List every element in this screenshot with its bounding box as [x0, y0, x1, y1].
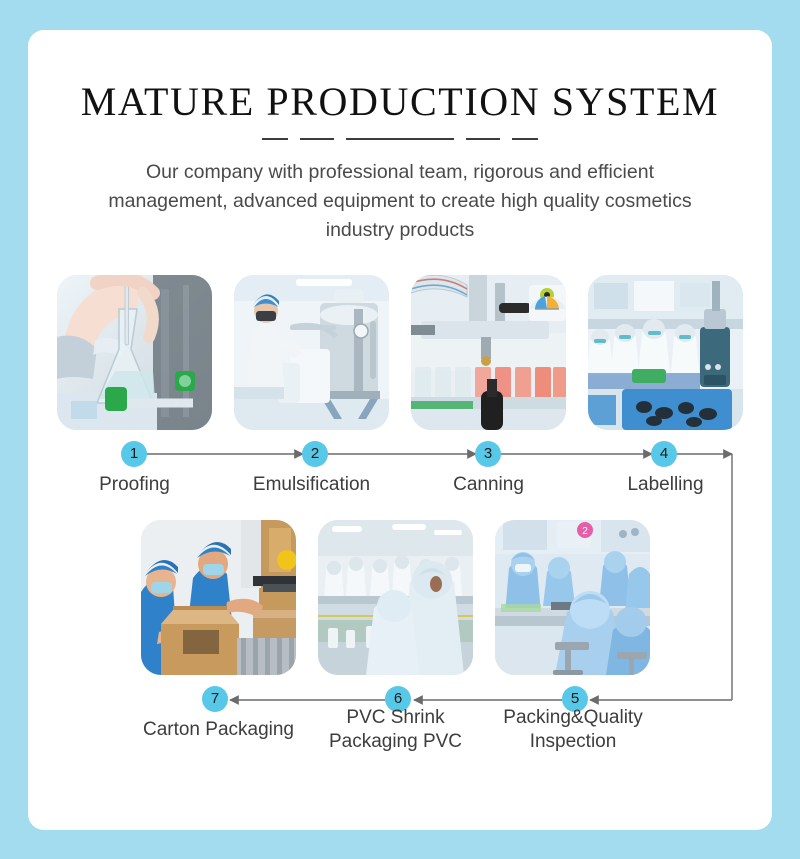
step-label-packing-quality-inspection: Packing&Quality Inspection	[483, 706, 663, 754]
bottle-filling-machine-photo	[411, 275, 566, 430]
page-subtitle: Our company with professional team, rigo…	[100, 158, 700, 245]
step-marker-2[interactable]: 2	[302, 441, 328, 467]
svg-text:2: 2	[582, 526, 588, 537]
step-image-pvc-shrink-packaging[interactable]	[318, 520, 473, 675]
cleanroom-labelling-line-photo	[588, 275, 743, 430]
step-label-labelling: Labelling	[588, 473, 743, 497]
divider-dash-2	[300, 138, 334, 140]
step-label-canning: Canning	[411, 473, 566, 497]
cleanroom-shrink-packaging-photo	[318, 520, 473, 675]
step-image-proofing[interactable]	[57, 275, 212, 430]
divider-dash-3	[346, 138, 454, 140]
carton-packing-conveyor-photo	[141, 520, 296, 675]
step-marker-3[interactable]: 3	[475, 441, 501, 467]
divider-dash-1	[262, 138, 288, 140]
inspection-workbench-photo: 2	[495, 520, 650, 675]
step-image-carton-packaging[interactable]	[141, 520, 296, 675]
divider-dash-4	[466, 138, 500, 140]
lab-flask-pipette-photo	[57, 275, 212, 430]
title-divider	[28, 138, 772, 140]
step-label-carton-packaging: Carton Packaging	[131, 718, 306, 742]
step-label-emulsification: Emulsification	[234, 473, 389, 497]
step-label-pvc-shrink-packaging: PVC Shrink Packaging PVC	[318, 706, 473, 754]
page-title: MATURE PRODUCTION SYSTEM	[28, 78, 772, 125]
step-marker-4[interactable]: 4	[651, 441, 677, 467]
emulsifier-tank-operator-photo	[234, 275, 389, 430]
step-marker-1[interactable]: 1	[121, 441, 147, 467]
step-image-packing-quality-inspection[interactable]: 2	[495, 520, 650, 675]
step-label-proofing: Proofing	[57, 473, 212, 497]
infographic-page: MATURE PRODUCTION SYSTEM Our company wit…	[0, 0, 800, 859]
step-image-emulsification[interactable]	[234, 275, 389, 430]
content-card: MATURE PRODUCTION SYSTEM Our company wit…	[28, 30, 772, 830]
divider-dash-5	[512, 138, 538, 140]
step-image-canning[interactable]	[411, 275, 566, 430]
step-image-labelling[interactable]	[588, 275, 743, 430]
step-marker-7[interactable]: 7	[202, 686, 228, 712]
